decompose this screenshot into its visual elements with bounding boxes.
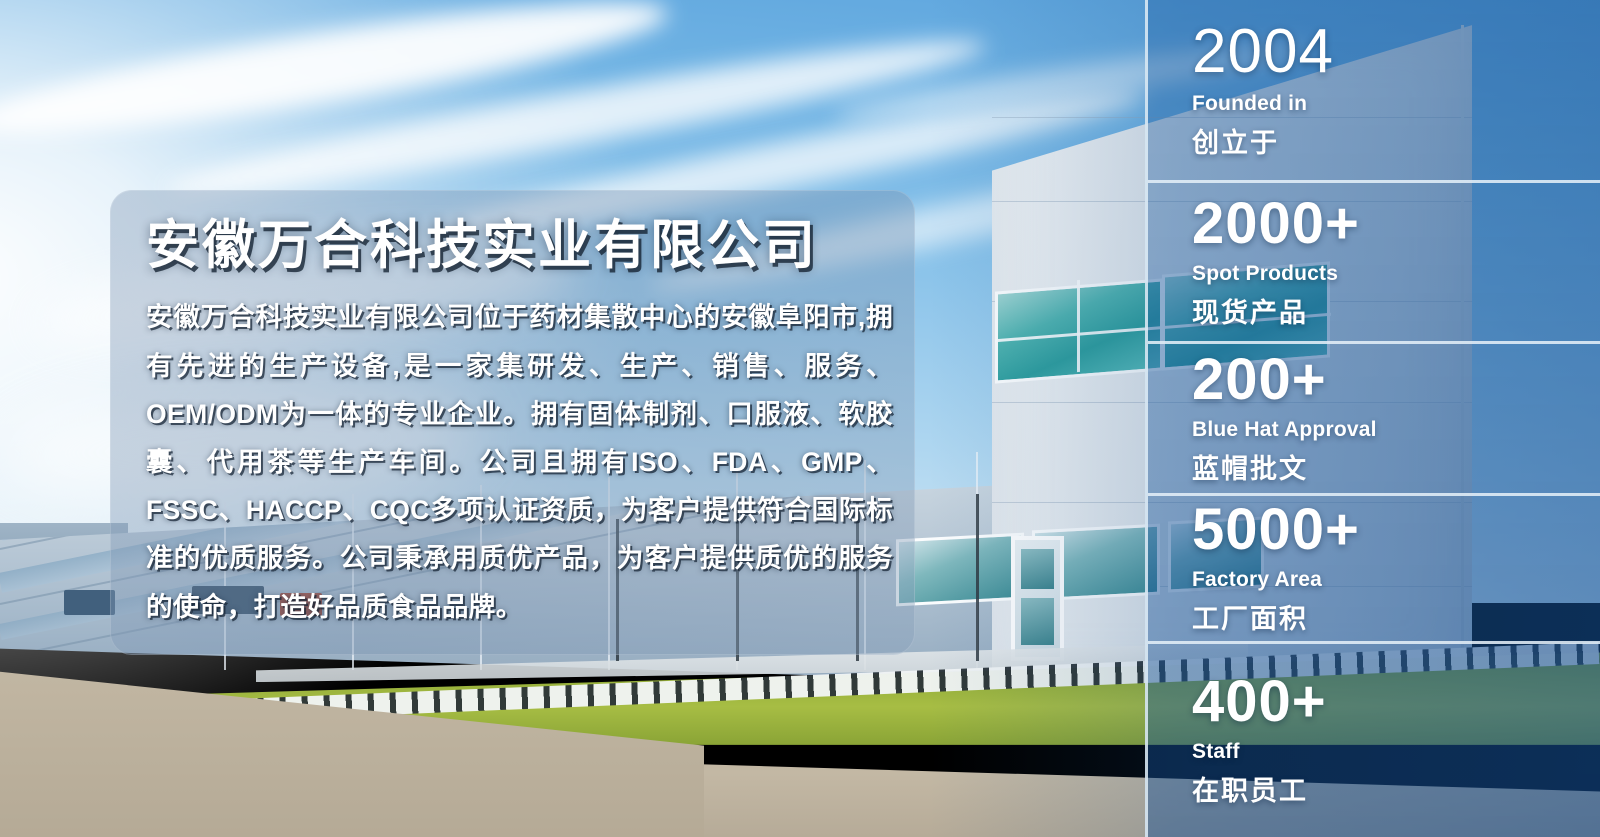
stat-label-cn: 工厂面积 [1192, 597, 1600, 636]
stat-item-founded: 2004 Founded in 创立于 [1148, 0, 1600, 180]
stat-label-cn: 现货产品 [1192, 291, 1600, 330]
stat-value: 200+ [1192, 351, 1600, 409]
stat-value: 5000+ [1192, 501, 1600, 559]
stats-panel: 2004 Founded in 创立于 2000+ Spot Products … [1145, 0, 1600, 837]
stat-label-en: Spot Products [1192, 262, 1600, 286]
stat-item-blue-hat-approval: 200+ Blue Hat Approval 蓝帽批文 [1148, 341, 1600, 493]
stat-label-en: Staff [1192, 740, 1600, 764]
stat-label-en: Founded in [1192, 92, 1600, 116]
stat-label-cn: 在职员工 [1192, 769, 1600, 808]
company-info-card: 安徽万合科技实业有限公司 安徽万合科技实业有限公司位于药材集散中心的安徽阜阳市,… [110, 190, 915, 655]
stat-label-en: Factory Area [1192, 568, 1600, 592]
stat-item-staff: 400+ Staff 在职员工 [1148, 641, 1600, 837]
stat-item-spot-products: 2000+ Spot Products 现货产品 [1148, 180, 1600, 341]
parked-vehicle [64, 590, 115, 615]
stat-value: 2000+ [1192, 195, 1600, 253]
building-window [896, 532, 1024, 606]
stat-label-cn: 蓝帽批文 [1192, 447, 1600, 486]
stat-item-factory-area: 5000+ Factory Area 工厂面积 [1148, 493, 1600, 641]
hero-banner: 安徽万合科技实业有限公司 安徽万合科技实业有限公司位于药材集散中心的安徽阜阳市,… [0, 0, 1600, 837]
company-title: 安徽万合科技实业有限公司 [146, 216, 893, 275]
stat-label-en: Blue Hat Approval [1192, 418, 1600, 442]
entrance-door [1011, 536, 1064, 662]
stat-value: 2004 [1192, 21, 1600, 83]
stat-value: 400+ [1192, 673, 1600, 731]
stat-label-cn: 创立于 [1192, 121, 1600, 160]
company-description: 安徽万合科技实业有限公司位于药材集散中心的安徽阜阳市,拥有先进的生产设备,是一家… [146, 293, 893, 631]
